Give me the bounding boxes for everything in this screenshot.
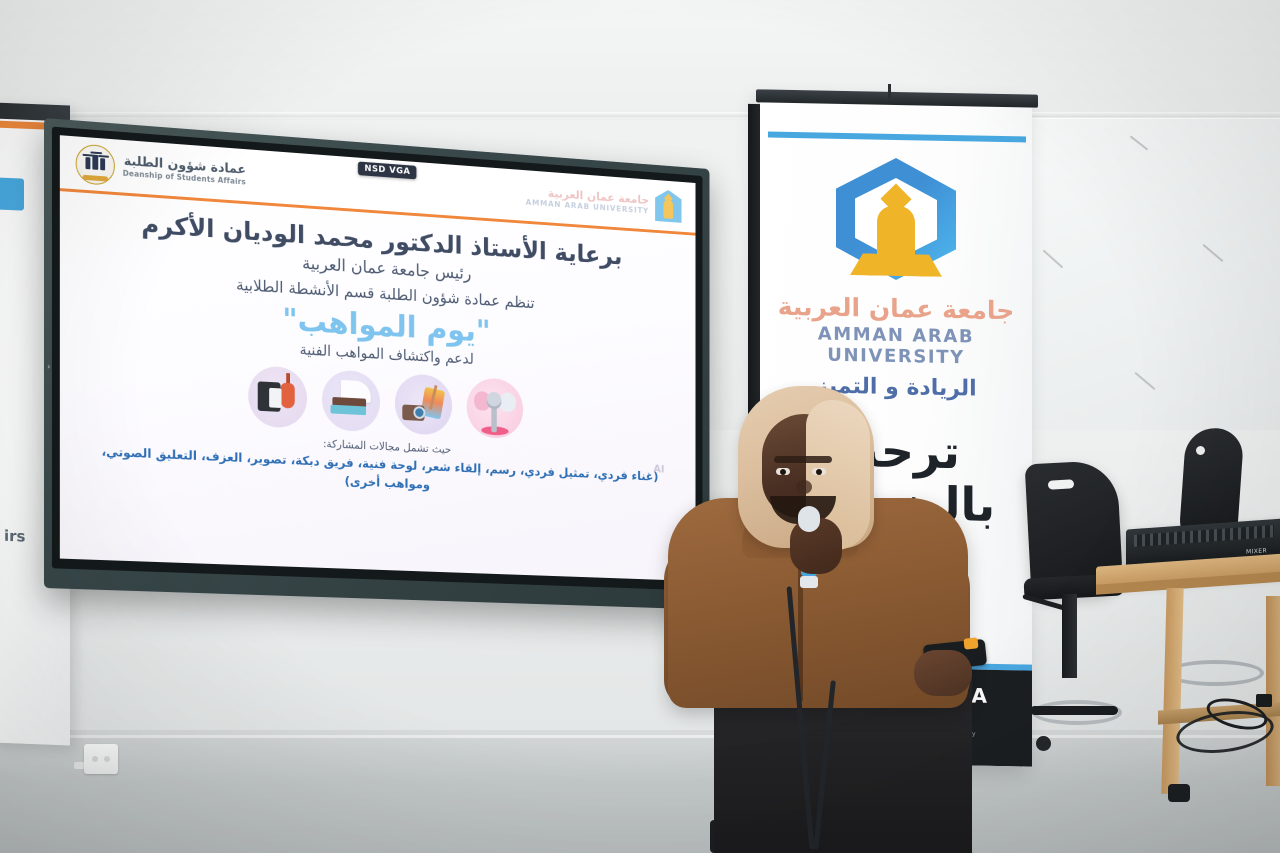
stool-front-post: [1062, 594, 1077, 678]
university-logo-block: جامعة عمان العربية AMMAN ARAB UNIVERSITY: [526, 179, 682, 223]
wall-upper: [0, 0, 1280, 120]
left-banner-logo-icon: [0, 177, 24, 210]
deanship-crest-icon: [76, 143, 115, 186]
ceiling-line: [0, 112, 1280, 117]
rollup-university-english: AMMAN ARAB UNIVERSITY: [760, 322, 1032, 369]
microphone-connector: [800, 576, 818, 588]
floor-seam: [0, 735, 1280, 738]
rollup-university-arabic: جامعة عمان العربية: [760, 291, 1032, 325]
speaker-pupil-right: [816, 469, 822, 475]
power-plug-icon: [1256, 694, 1272, 707]
handheld-device-tip: [963, 637, 978, 649]
speaker-brow: [774, 456, 832, 463]
university-hexagon-icon: [655, 189, 681, 223]
slide-body: برعاية الأستاذ الدكتور محمد الوديان الأك…: [60, 191, 696, 581]
university-hexagon-logo-icon: [836, 157, 956, 281]
violin-music-icon: [248, 365, 307, 429]
seated-speaker: [646, 380, 1046, 853]
display-screen: عمادة شؤون الطلبة Deanship of Students A…: [60, 135, 696, 581]
photo-scene: ع irs › عمادة شؤون الطلبة Deanship of St…: [0, 0, 1280, 853]
stool-back-slot: [1196, 446, 1205, 455]
books-writing-icon: [322, 369, 380, 432]
wooden-table-leg: [1266, 596, 1280, 786]
microphone-head-icon: [798, 506, 820, 532]
wall-display[interactable]: › عمادة شؤون الطلبة Deanship of Students…: [44, 118, 709, 610]
display-side-arrow-icon: ›: [47, 363, 51, 373]
stool-front-handle-slot: [1048, 479, 1074, 489]
speaker-right-hand: [914, 650, 972, 696]
deanship-logo-block: عمادة شؤون الطلبة Deanship of Students A…: [76, 143, 246, 195]
camera-art-supplies-icon: [395, 373, 452, 436]
speaker-nose: [796, 480, 812, 494]
floor: [0, 735, 1280, 853]
table-caster-icon: [1168, 784, 1190, 802]
speaker-pupil-left: [780, 469, 786, 475]
deanship-text: عمادة شؤون الطلبة Deanship of Students A…: [123, 155, 246, 187]
university-text: جامعة عمان العربية AMMAN ARAB UNIVERSITY: [526, 184, 649, 216]
whiteboard: [1012, 118, 1280, 438]
wall-outlet[interactable]: [84, 744, 118, 774]
microphone-masks-icon: [467, 377, 523, 439]
